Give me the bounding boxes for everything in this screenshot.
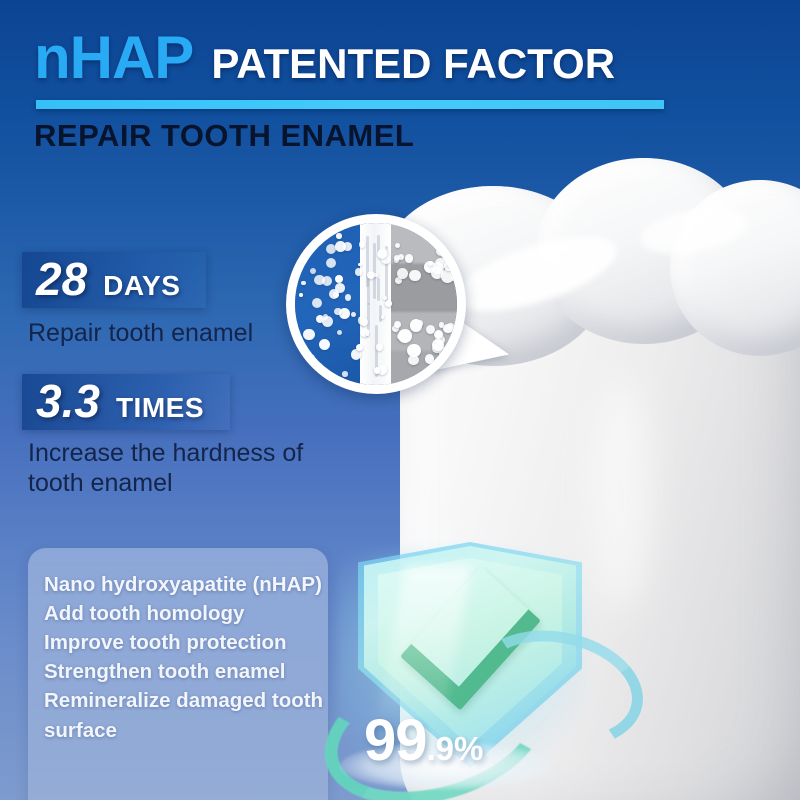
nhap-particle xyxy=(314,275,325,286)
nhap-particle xyxy=(335,241,346,252)
list-item: Remineralize damaged tooth xyxy=(44,686,328,715)
stat-description-days: Repair tooth enamel xyxy=(28,318,253,348)
list-item: Add tooth homology xyxy=(44,599,328,628)
magnifier-dentin-bands xyxy=(391,223,457,385)
enamel-streak xyxy=(367,278,370,305)
efficacy-badge: 99 .9% xyxy=(364,712,483,770)
list-item: Nano hydroxyapatite (nHAP) xyxy=(44,570,328,599)
stat-badge-days: 28 DAYS xyxy=(22,252,206,308)
enamel-streak xyxy=(379,305,382,322)
nhap-particle xyxy=(409,270,421,282)
nhap-particle xyxy=(374,367,381,374)
enamel-streak xyxy=(367,303,370,330)
nhap-particle xyxy=(355,268,362,275)
nhap-particle xyxy=(345,294,351,300)
nhap-particle xyxy=(452,243,457,255)
stat-value-times: 3.3 xyxy=(36,378,100,424)
nhap-particle xyxy=(443,324,453,334)
stat-badge-times: 3.3 TIMES xyxy=(22,374,230,430)
title-row: nHAP PATENTED FACTOR xyxy=(34,28,615,88)
nhap-particle xyxy=(397,268,408,279)
efficacy-value-minor: .9% xyxy=(427,732,484,765)
nhap-particle xyxy=(319,339,330,350)
list-item: Strengthen tooth enamel xyxy=(44,657,328,686)
nhap-particle xyxy=(336,233,342,239)
nhap-particle xyxy=(455,343,457,348)
nhap-particle xyxy=(376,343,384,351)
magnifier-content xyxy=(295,223,457,385)
benefits-list: Nano hydroxyapatite (nHAP) Add tooth hom… xyxy=(28,548,328,745)
nhap-particle xyxy=(303,329,314,340)
nhap-particle xyxy=(377,249,387,259)
nhap-particle xyxy=(449,353,457,366)
nhap-particle xyxy=(342,371,347,376)
stat-unit-times: TIMES xyxy=(116,394,204,422)
headline-title: PATENTED FACTOR xyxy=(211,43,615,85)
nhap-particle xyxy=(405,254,414,263)
nhap-particle xyxy=(329,289,339,299)
magnifier-enamel-cross-section xyxy=(286,214,466,394)
nhap-particle xyxy=(312,298,322,308)
stat-description-times: Increase the hardness of tooth enamel xyxy=(28,438,348,498)
nhap-particle xyxy=(337,330,342,335)
nhap-particle xyxy=(441,269,454,282)
nhap-particle xyxy=(452,338,457,344)
nhap-particle xyxy=(381,315,384,318)
nhap-particle xyxy=(359,241,365,247)
nhap-particle xyxy=(398,329,412,343)
brand-title: nHAP xyxy=(34,28,193,88)
stat-value-days: 28 xyxy=(36,256,87,302)
list-item: surface xyxy=(44,716,328,745)
nhap-particle xyxy=(426,325,435,334)
nhap-particle xyxy=(301,281,305,285)
benefits-panel: Nano hydroxyapatite (nHAP) Add tooth hom… xyxy=(28,548,328,800)
nhap-particle xyxy=(310,268,316,274)
efficacy-value-major: 99 xyxy=(364,712,427,770)
nhap-particle xyxy=(306,354,314,362)
accent-divider xyxy=(36,100,664,109)
nhap-particle xyxy=(428,261,433,266)
nhap-particle xyxy=(334,308,341,315)
nhap-particle xyxy=(385,300,391,306)
list-item: Improve tooth protection xyxy=(44,628,328,657)
nhap-particle xyxy=(425,354,434,363)
stat-unit-days: DAYS xyxy=(103,272,180,300)
poster-canvas: nHAP PATENTED FACTOR REPAIR TOOTH ENAMEL… xyxy=(0,0,800,800)
page-subtitle: REPAIR TOOTH ENAMEL xyxy=(34,118,414,154)
nhap-particle xyxy=(432,339,444,351)
nhap-particle xyxy=(299,293,303,297)
enamel-streak xyxy=(377,278,380,300)
nhap-particle xyxy=(303,375,308,380)
nhap-particle xyxy=(436,246,446,256)
nhap-particle xyxy=(444,261,453,270)
nhap-particle xyxy=(408,355,418,365)
